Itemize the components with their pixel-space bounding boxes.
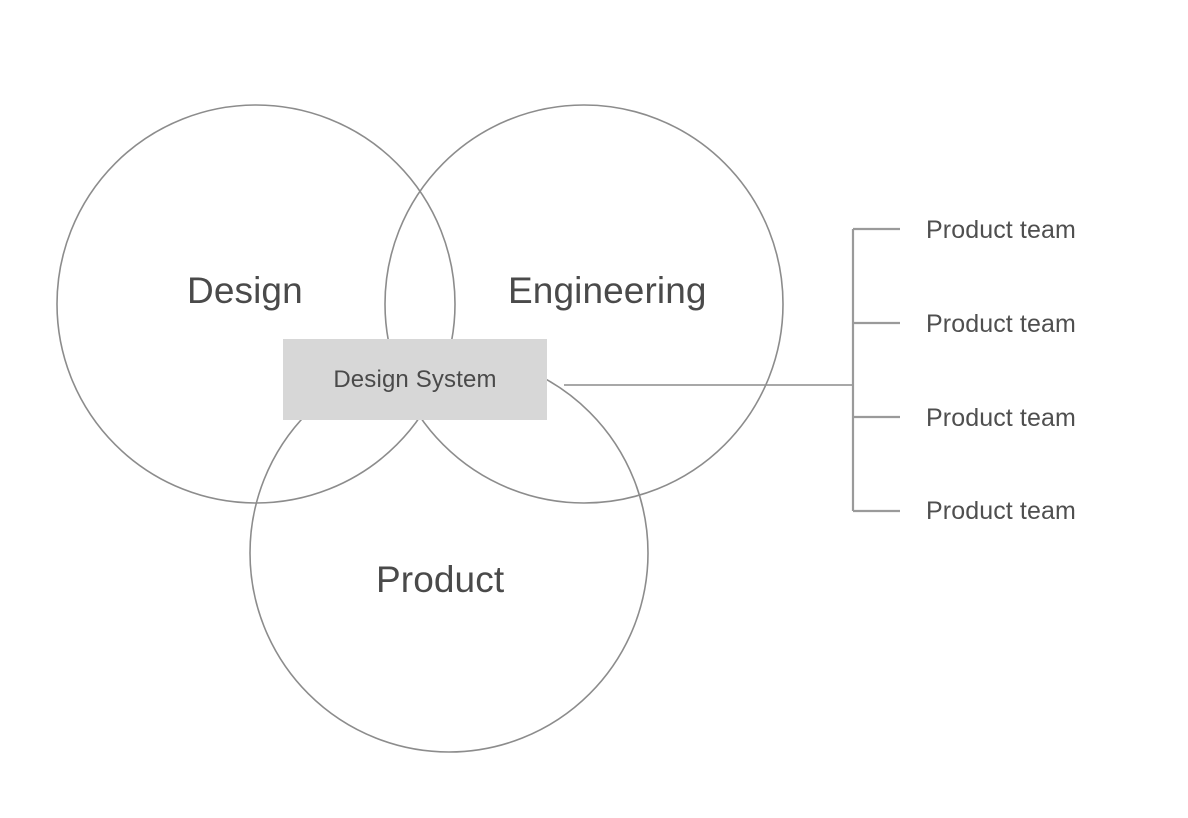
design-system-box-label: Design System [333, 366, 496, 394]
product-team-label-4: Product team [926, 499, 1076, 524]
product-team-label-1: Product team [926, 218, 1076, 243]
venn-label-design: Design [187, 272, 303, 309]
venn-label-engineering: Engineering [508, 272, 707, 309]
product-team-label-3: Product team [926, 406, 1076, 431]
venn-label-product: Product [376, 561, 504, 598]
design-system-box[interactable]: Design System [283, 339, 547, 420]
venn-diagram-canvas: Design Engineering Product Design System… [0, 0, 1188, 818]
product-team-label-2: Product team [926, 312, 1076, 337]
